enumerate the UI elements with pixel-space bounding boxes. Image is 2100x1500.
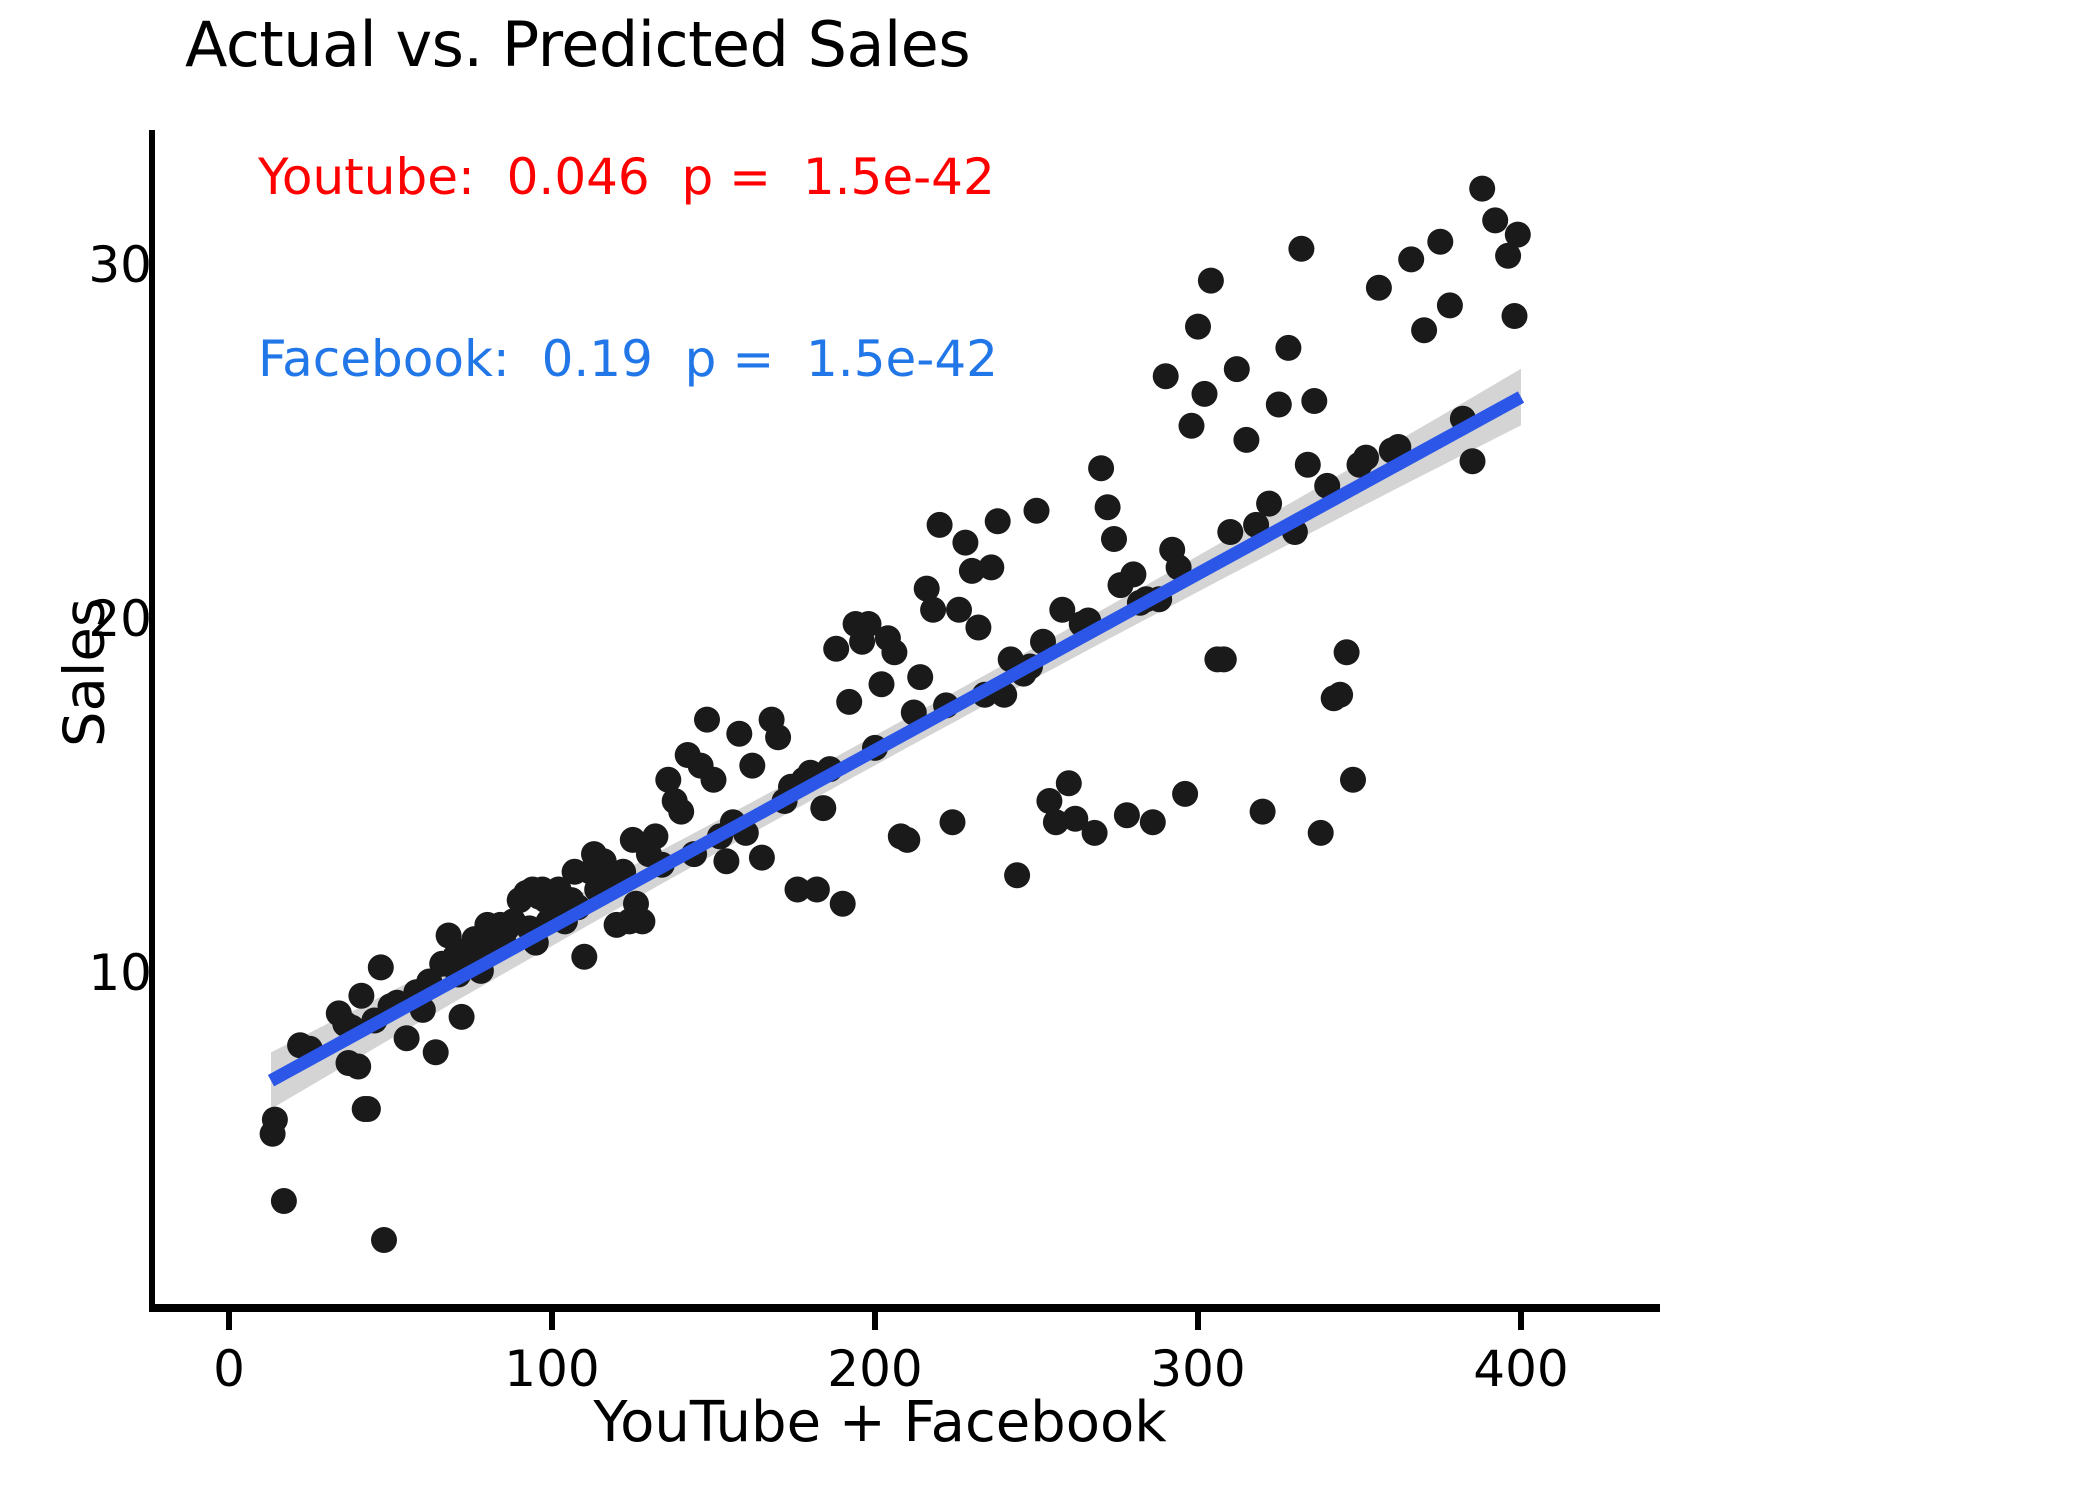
data-point [449,1004,475,1030]
x-tick-label: 200 [775,1340,975,1398]
data-point [1256,491,1282,517]
data-point [1095,494,1121,520]
data-point [1101,526,1127,552]
data-point [1211,646,1237,672]
data-point [1172,781,1198,807]
data-point [371,1227,397,1253]
data-point [1217,519,1243,545]
scatter-points [260,176,1531,1253]
data-point [1398,246,1424,272]
data-point [642,823,668,849]
data-point [927,512,953,538]
x-tick-label: 300 [1098,1340,1298,1398]
data-point [869,671,895,697]
x-tick-label: 0 [129,1340,329,1398]
data-point [1460,448,1486,474]
data-point [1082,820,1108,846]
data-point [629,908,655,934]
data-point [1140,809,1166,835]
chart-page: Actual vs. Predicted Sales Youtube: 0.04… [0,0,2100,1500]
data-point [1198,268,1224,294]
data-point [571,944,597,970]
data-point [1088,455,1114,481]
data-point [368,954,394,980]
data-point [823,636,849,662]
data-point [965,615,991,641]
data-point [1334,639,1360,665]
data-point [701,767,727,793]
data-point [726,721,752,747]
data-point [1411,317,1437,343]
data-point [668,799,694,825]
data-point [985,508,1011,534]
data-point [1353,445,1379,471]
data-point [1024,498,1050,524]
data-point [830,891,856,917]
data-point [836,689,862,715]
data-point [1192,381,1218,407]
data-point [946,597,972,623]
data-point [1114,802,1140,828]
data-point [1308,820,1334,846]
data-point [1250,799,1276,825]
data-point [1185,314,1211,340]
data-point [355,1096,381,1122]
data-point [739,753,765,779]
regression-line-path [271,397,1521,1081]
data-point [262,1107,288,1133]
data-point [1288,236,1314,262]
data-point [1179,413,1205,439]
data-point [881,639,907,665]
data-point [1153,363,1179,389]
data-point [1233,427,1259,453]
data-point [348,983,374,1009]
data-point [1340,767,1366,793]
data-point [1004,862,1030,888]
data-point [1482,207,1508,233]
data-point [907,664,933,690]
data-point [952,530,978,556]
data-point [1437,292,1463,318]
data-point [1327,682,1353,708]
data-point [1505,222,1531,248]
data-point [271,1188,297,1214]
data-point [1502,303,1528,329]
data-point [1120,561,1146,587]
data-point [920,597,946,623]
data-point [1266,392,1292,418]
data-point [423,1039,449,1065]
data-point [749,845,775,871]
data-point [1301,388,1327,414]
data-point [940,809,966,835]
data-point [1295,452,1321,478]
data-point [765,724,791,750]
scatter-plot-canvas [0,0,2100,1500]
data-point [345,1054,371,1080]
data-point [978,554,1004,580]
data-point [1366,275,1392,301]
data-point [713,848,739,874]
regression-line [271,397,1521,1081]
data-point [1275,335,1301,361]
data-point [804,877,830,903]
data-point [394,1025,420,1051]
data-point [694,707,720,733]
data-point [810,795,836,821]
data-point [1056,770,1082,796]
x-tick-label: 100 [452,1340,652,1398]
data-point [894,827,920,853]
data-point [1427,229,1453,255]
data-point [1224,356,1250,382]
data-point [1469,176,1495,202]
x-tick-label: 400 [1421,1340,1621,1398]
